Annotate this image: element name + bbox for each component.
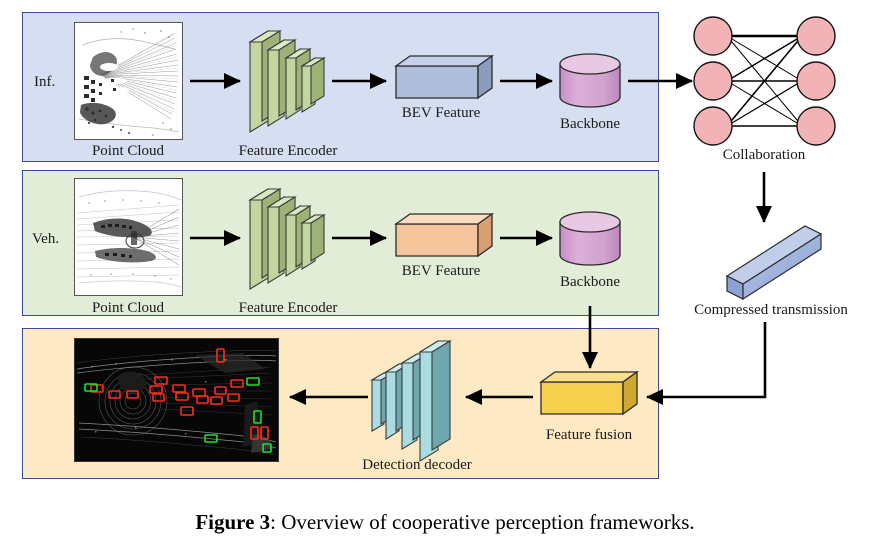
- label-feature-encoder-veh: Feature Encoder: [239, 301, 338, 316]
- figure-caption-text: : Overview of cooperative perception fra…: [270, 510, 695, 534]
- collab-node-right-3: [797, 107, 835, 145]
- label-detection-decoder: Detection decoder: [362, 458, 472, 473]
- label-point-cloud-inf: Point Cloud: [92, 144, 164, 159]
- label-point-cloud-veh: Point Cloud: [92, 301, 164, 316]
- figure-caption: Figure 3: Overview of cooperative percep…: [0, 510, 890, 535]
- bev-feature-box-inf: [396, 56, 492, 98]
- collab-node-right-1: [797, 17, 835, 55]
- collab-node-left-1: [694, 17, 732, 55]
- figure-canvas: Inf. Veh. Point Cloud Feature Encoder BE…: [0, 0, 890, 559]
- backbone-cylinder-inf: [560, 54, 620, 107]
- feature-fusion-box: [541, 372, 637, 414]
- label-feature-encoder-inf: Feature Encoder: [239, 144, 338, 159]
- feature-encoder-veh: [250, 189, 324, 289]
- label-bev-feature-inf: BEV Feature: [402, 106, 480, 121]
- backbone-cylinder-veh: [560, 212, 620, 265]
- figure-caption-number: Figure 3: [195, 510, 270, 534]
- label-feature-fusion: Feature fusion: [546, 428, 632, 443]
- arrow-transmission-to-fusion: [647, 322, 765, 397]
- bev-feature-box-veh: [396, 214, 492, 256]
- label-collaboration: Collaboration: [723, 148, 806, 163]
- panel-label-inf: Inf.: [34, 75, 55, 90]
- collaboration-graph: [694, 17, 835, 145]
- panel-label-veh: Veh.: [32, 232, 59, 247]
- label-bev-feature-veh: BEV Feature: [402, 264, 480, 279]
- label-compressed-transmission: Compressed transmission: [694, 303, 848, 318]
- label-backbone-inf: Backbone: [560, 117, 620, 132]
- detection-decoder: [372, 341, 450, 461]
- collab-node-right-2: [797, 62, 835, 100]
- collab-node-left-3: [694, 107, 732, 145]
- label-backbone-veh: Backbone: [560, 275, 620, 290]
- collab-node-left-2: [694, 62, 732, 100]
- feature-encoder-inf: [250, 31, 324, 132]
- compressed-transmission-bar: [727, 226, 821, 299]
- diagram-vector-layer: [0, 0, 890, 559]
